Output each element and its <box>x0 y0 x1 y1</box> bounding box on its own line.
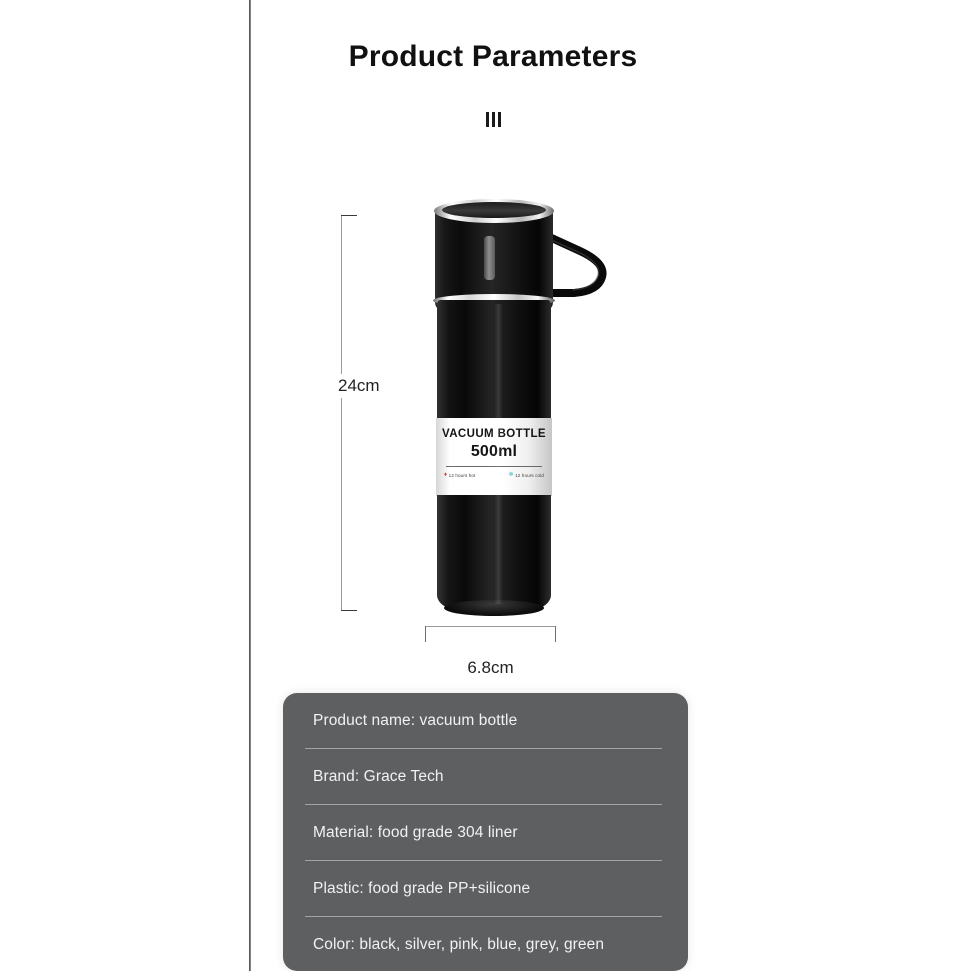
spec-row: Product name: vacuum bottle <box>283 693 688 748</box>
height-dimension-line <box>341 215 357 611</box>
bar-2 <box>492 112 495 127</box>
spec-row: Plastic: food grade PP+silicone <box>283 861 688 916</box>
spec-list: Product name: vacuum bottle Brand: Grace… <box>283 693 688 971</box>
snowflake-icon: ❄ <box>508 472 513 478</box>
height-stem <box>341 215 342 611</box>
bottle-sheen <box>494 304 503 604</box>
product-parameters-page: Product Parameters 24cm 6.8cm VACUUM BOT… <box>0 0 970 971</box>
page-edge-divider <box>249 0 251 971</box>
spec-panel: Product name: vacuum bottle Brand: Grace… <box>283 693 688 971</box>
spec-row: Material: food grade 304 liner <box>283 805 688 860</box>
claim-hot: ♦ 12 hours hot <box>444 472 475 478</box>
height-label: 24cm <box>330 374 386 398</box>
width-label: 6.8cm <box>425 658 556 678</box>
cup-highlight-stripe <box>484 236 495 280</box>
spec-material: Material: food grade 304 liner <box>313 824 518 842</box>
claim-cold-text: 12 hours cold <box>515 473 544 478</box>
height-tick-bottom <box>341 610 357 611</box>
page-title: Product Parameters <box>283 40 703 74</box>
height-tick-top <box>341 215 357 216</box>
three-bars-icon <box>283 112 703 127</box>
claim-cold: ❄ 12 hours cold <box>508 472 544 478</box>
spec-product-name: Product name: vacuum bottle <box>313 712 517 730</box>
flame-icon: ♦ <box>444 472 447 478</box>
width-tick-left <box>425 626 426 642</box>
spec-row: Brand: Grace Tech <box>283 749 688 804</box>
bar-3 <box>498 112 501 127</box>
spec-row: Color: black, silver, pink, blue, grey, … <box>283 917 688 971</box>
cup-inner-opening <box>442 202 546 218</box>
claim-hot-text: 12 hours hot <box>449 473 476 478</box>
width-tick-right <box>555 626 556 642</box>
width-dimension-line <box>425 626 556 642</box>
spec-plastic: Plastic: food grade PP+silicone <box>313 880 530 898</box>
spec-color: Color: black, silver, pink, blue, grey, … <box>313 936 604 954</box>
width-stem <box>425 626 556 627</box>
spec-brand: Brand: Grace Tech <box>313 768 444 786</box>
vacuum-bottle-image: VACUUM BOTTLE 500ml ♦ 12 hours hot ❄ 12 … <box>420 196 630 624</box>
bar-1 <box>486 112 489 127</box>
